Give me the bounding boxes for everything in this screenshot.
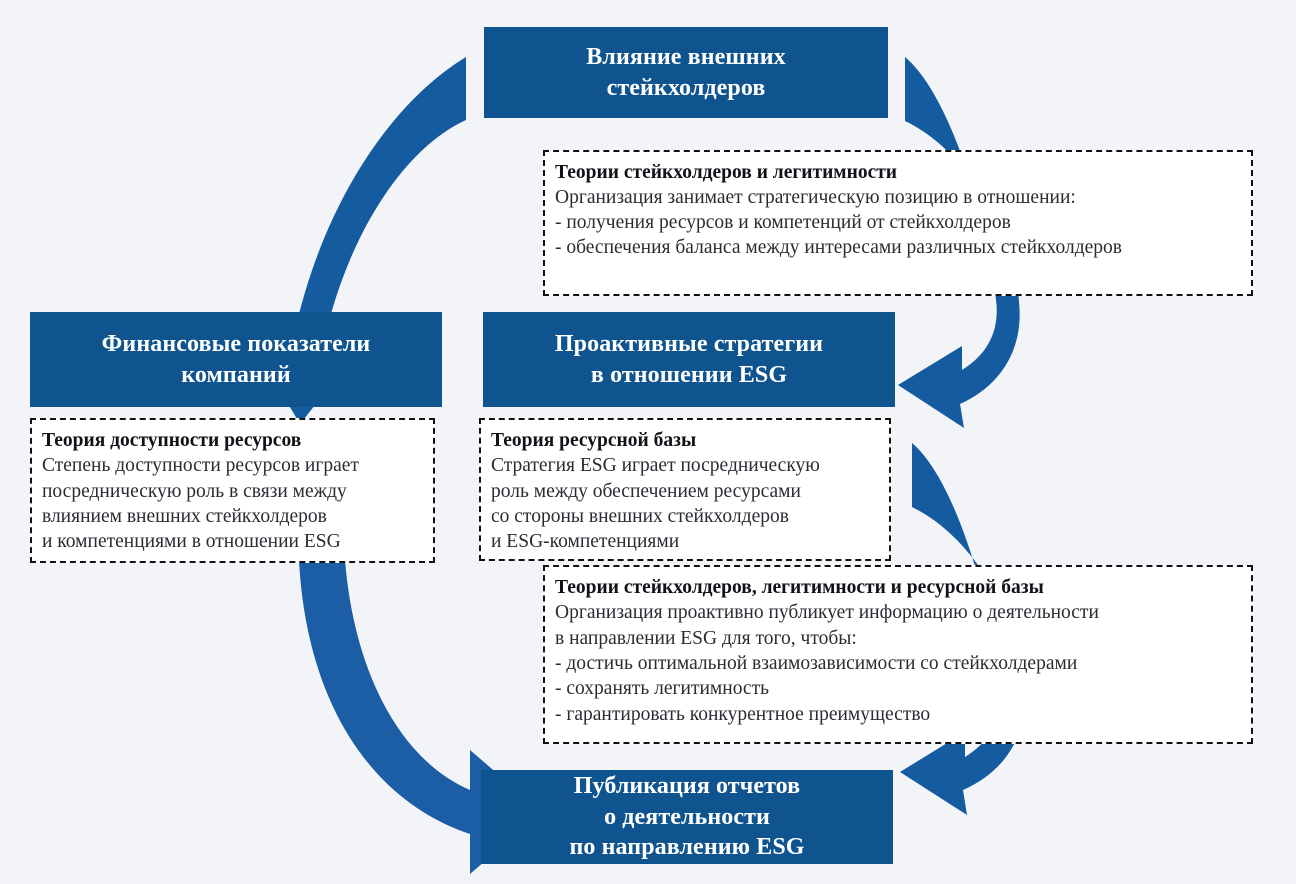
box-left-line-2: компаний — [181, 360, 291, 391]
note-center-header: Теория ресурсной базы — [491, 428, 879, 453]
note-top-header: Теории стейкхолдеров и легитимности — [555, 160, 1241, 185]
box-bottom-line-3: по направлению ESG — [569, 832, 804, 863]
note-top-line-2: - получения ресурсов и компетенций от ст… — [555, 210, 1241, 235]
box-top-line-1: Влияние внешних — [586, 42, 785, 73]
note-top-line-1: Организация занимает стратегическую пози… — [555, 185, 1241, 210]
box-external-stakeholder-influence[interactable]: Влияние внешних стейкхолдеров — [484, 27, 888, 118]
box-proactive-esg-strategies[interactable]: Проактивные стратегии в отношении ESG — [483, 312, 895, 407]
note-combined-theories: Теории стейкхолдеров, легитимности и рес… — [543, 565, 1253, 744]
note-left-line-1: Степень доступности ресурсов играет — [42, 453, 423, 478]
note-bottom-line-2: в направлении ESG для того, чтобы: — [555, 626, 1241, 651]
note-center-line-2: роль между обеспечением ресурсами — [491, 479, 879, 504]
box-esg-reporting[interactable]: Публикация отчетов о деятельности по нап… — [481, 770, 893, 864]
note-center-line-3: со стороны внешних стейкхолдеров — [491, 504, 879, 529]
note-stakeholder-legitimacy-theories: Теории стейкхолдеров и легитимности Орга… — [543, 150, 1253, 296]
box-top-line-2: стейкхолдеров — [607, 73, 766, 104]
box-left-line-1: Финансовые показатели — [102, 329, 371, 360]
note-bottom-line-3: - достичь оптимальной взаимозависимости … — [555, 651, 1241, 676]
box-center-line-1: Проактивные стратегии — [555, 329, 823, 360]
note-bottom-line-1: Организация проактивно публикует информа… — [555, 600, 1241, 625]
esg-diagram: Влияние внешних стейкхолдеров Финансовые… — [0, 0, 1296, 884]
note-bottom-line-4: - сохранять легитимность — [555, 676, 1241, 701]
note-bottom-line-5: - гарантировать конкурентное преимуществ… — [555, 702, 1241, 727]
box-center-line-2: в отношении ESG — [591, 360, 787, 391]
note-left-line-4: и компетенциями в отношении ESG — [42, 529, 423, 554]
note-resource-based-theory: Теория ресурсной базы Стратегия ESG игра… — [479, 418, 891, 561]
box-bottom-line-2: о деятельности — [604, 802, 770, 833]
note-resource-availability-theory: Теория доступности ресурсов Степень дост… — [30, 418, 435, 563]
box-financial-performance[interactable]: Финансовые показатели компаний — [30, 312, 442, 407]
note-top-line-3: - обеспечения баланса между интересами р… — [555, 235, 1241, 260]
note-center-line-1: Стратегия ESG играет посредническую — [491, 453, 879, 478]
note-center-line-4: и ESG-компетенциями — [491, 529, 879, 554]
note-left-line-2: посредническую роль в связи между — [42, 479, 423, 504]
box-bottom-line-1: Публикация отчетов — [574, 771, 800, 802]
note-left-header: Теория доступности ресурсов — [42, 428, 423, 453]
note-bottom-header: Теории стейкхолдеров, легитимности и рес… — [555, 575, 1241, 600]
note-left-line-3: влиянием внешних стейкхолдеров — [42, 504, 423, 529]
